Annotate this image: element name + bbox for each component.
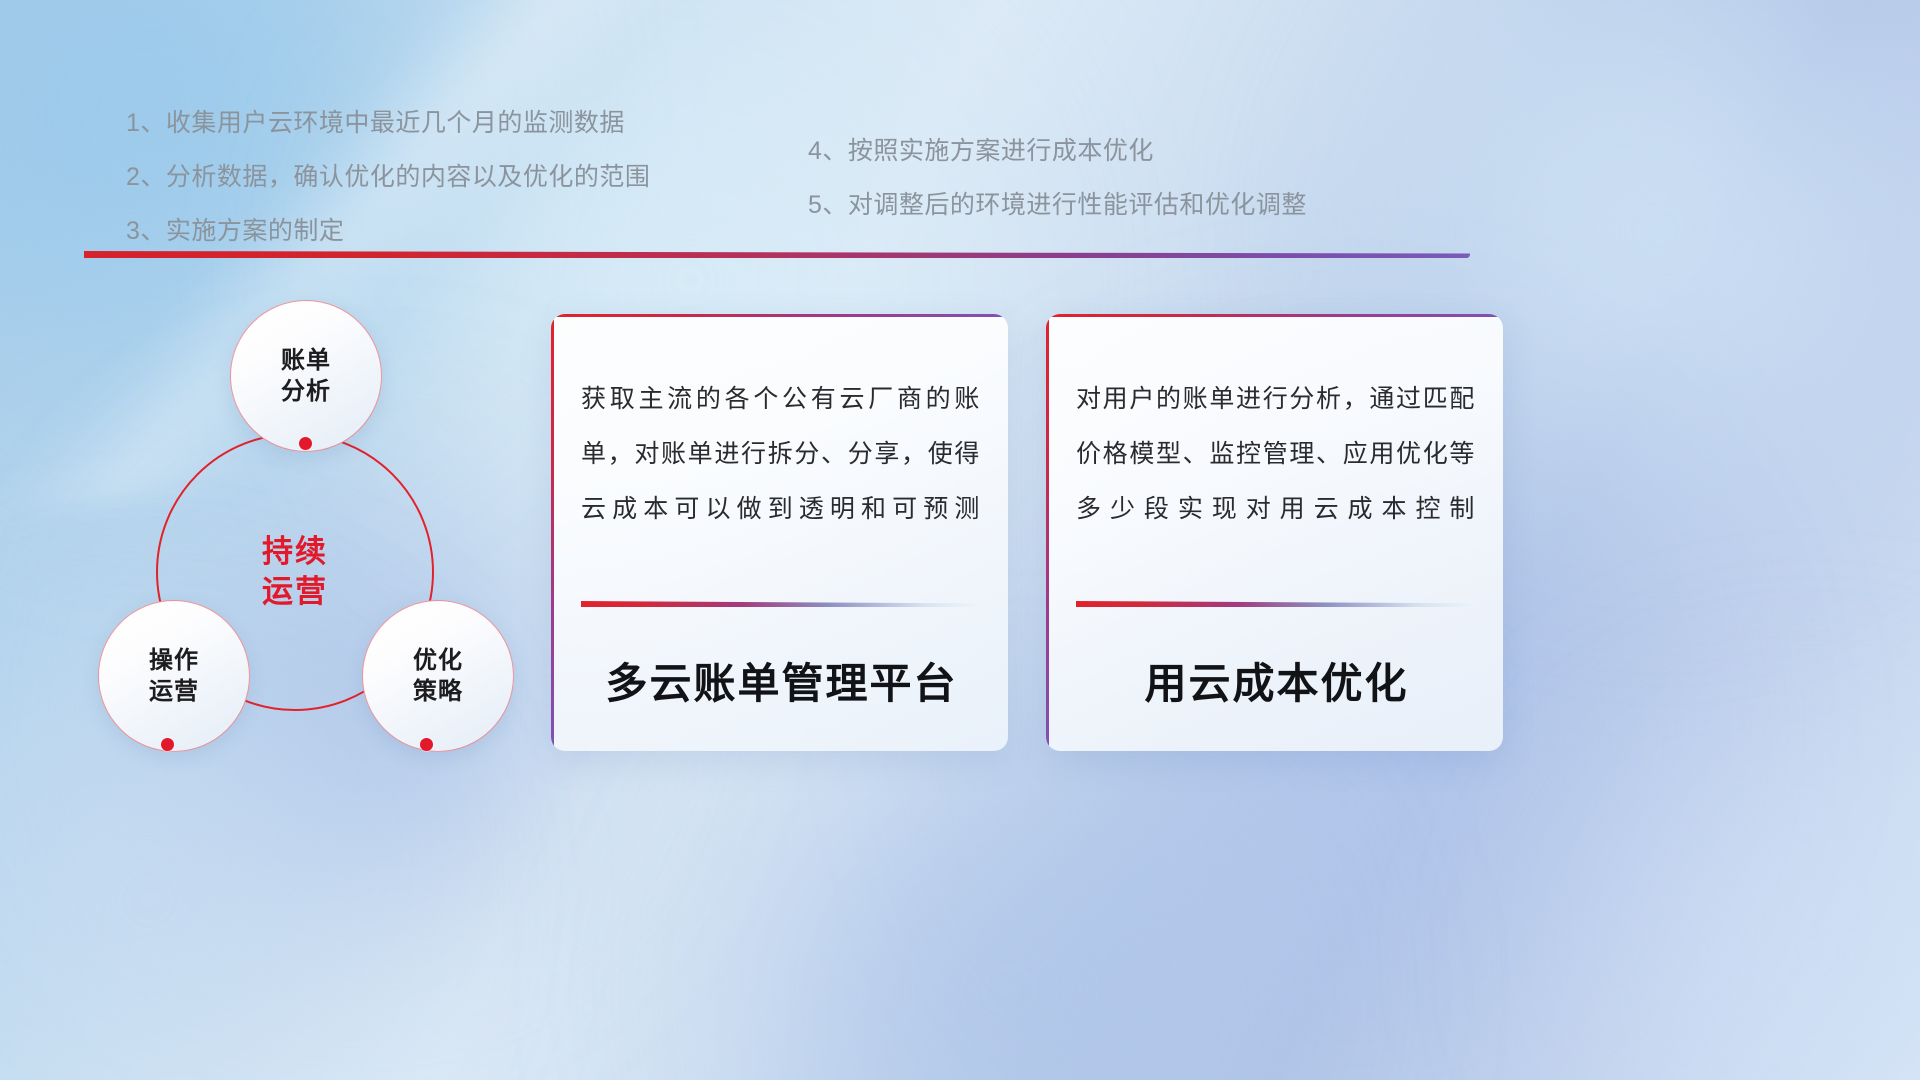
venn-node-label: 账单 分析 — [281, 345, 331, 407]
step-list-item: 4、按照实施方案进行成本优化 — [808, 124, 1307, 178]
feature-card-body: 对用户的账单进行分析，通过匹配价格模型、监控管理、应用优化等多少段实现对用云成本… — [1076, 372, 1475, 537]
feature-card-title: 用云成本优化 — [1076, 650, 1477, 711]
venn-center-label-line1: 持续 — [262, 532, 328, 572]
venn-node-label: 操作 运营 — [149, 645, 199, 707]
step-list-right-column: 4、按照实施方案进行成本优化 5、对调整后的环境进行性能评估和优化调整 — [808, 124, 1307, 232]
step-list-left-column: 1、收集用户云环境中最近几个月的监测数据 2、分析数据，确认优化的内容以及优化的… — [126, 96, 650, 258]
feature-card-rule — [1076, 601, 1475, 607]
feature-card-rule — [581, 601, 980, 607]
step-list-item: 2、分析数据，确认优化的内容以及优化的范围 — [126, 150, 650, 204]
venn-node-bill-analysis[interactable]: 账单 分析 — [230, 300, 382, 452]
step-list-item: 1、收集用户云环境中最近几个月的监测数据 — [126, 96, 650, 150]
venn-connector-dot-left — [161, 738, 174, 751]
feature-card-title: 多云账单管理平台 — [581, 650, 982, 711]
venn-center-label-line2: 运营 — [262, 572, 328, 612]
venn-node-label-line2: 策略 — [413, 676, 463, 707]
feature-card-body: 获取主流的各个公有云厂商的账单，对账单进行拆分、分享，使得云成本可以做到透明和可… — [581, 372, 980, 537]
venn-node-label: 优化 策略 — [413, 645, 463, 707]
venn-connector-dot-top — [299, 437, 312, 450]
feature-card-multicloud-billing[interactable]: 获取主流的各个公有云厂商的账单，对账单进行拆分、分享，使得云成本可以做到透明和可… — [551, 314, 1008, 751]
venn-node-operation[interactable]: 操作 运营 — [98, 600, 250, 752]
feature-card-cloud-cost-optimization[interactable]: 对用户的账单进行分析，通过匹配价格模型、监控管理、应用优化等多少段实现对用云成本… — [1046, 314, 1503, 751]
venn-node-label-line2: 分析 — [281, 376, 331, 407]
step-list-item: 3、实施方案的制定 — [126, 204, 650, 258]
venn-node-label-line1: 账单 — [281, 345, 331, 376]
step-list-item: 5、对调整后的环境进行性能评估和优化调整 — [808, 178, 1307, 232]
venn-connector-dot-right — [420, 738, 433, 751]
continuous-operation-venn-diagram: 持续 运营 账单 分析 操作 运营 优化 策略 — [80, 285, 540, 765]
venn-node-optimization-strategy[interactable]: 优化 策略 — [362, 600, 514, 752]
venn-node-label-line2: 运营 — [149, 676, 199, 707]
venn-node-label-line1: 优化 — [413, 645, 463, 676]
venn-center-label: 持续 运营 — [262, 532, 328, 612]
venn-node-label-line1: 操作 — [149, 645, 199, 676]
